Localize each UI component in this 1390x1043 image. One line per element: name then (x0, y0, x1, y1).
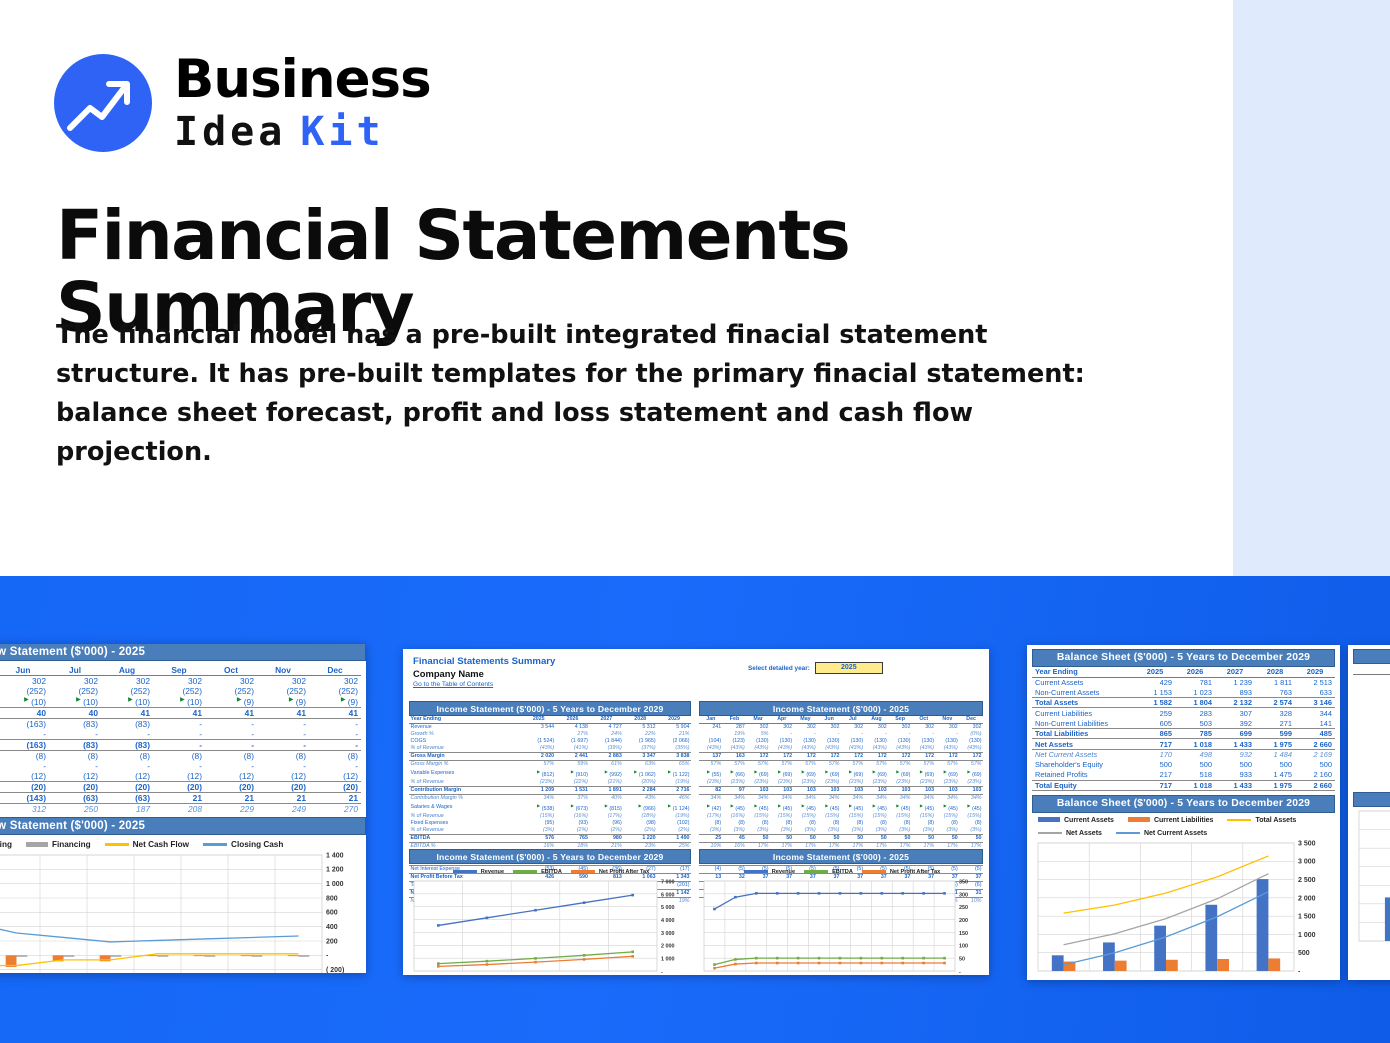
table-cell: 1 239 (1215, 677, 1255, 687)
table-row: 692 (1353, 715, 1390, 725)
svg-text:350: 350 (959, 880, 968, 886)
table-cell: ▶ (45) (746, 802, 770, 813)
comment-flag-icon: ▶ (754, 803, 757, 808)
row-label: Current Assets (1032, 677, 1135, 687)
legend-swatch (1227, 819, 1251, 822)
table-cell: (23%) (723, 779, 747, 787)
table-cell: ▶ (1 124) (657, 802, 691, 813)
svg-text:( 200): ( 200) (326, 967, 344, 973)
table-cell: 271 (1255, 718, 1295, 728)
table-cell: 302 (257, 676, 309, 687)
table-cell: 141 (1295, 718, 1335, 728)
monthly-income-title: Income Statement ($'000) - 2025 (699, 701, 983, 716)
legend-item: Current Liabilities (1128, 817, 1214, 824)
comment-flag-icon: ▶ (849, 769, 852, 774)
svg-text:500: 500 (1298, 950, 1310, 957)
table-row: 8297103103103103103103103103103103 (699, 787, 983, 795)
table-cell: (20) (257, 781, 309, 792)
table-cell: 57% (841, 761, 865, 769)
table-cell: - (101, 729, 153, 740)
table-cell: 1 975 (1255, 739, 1295, 749)
table-cell: 97 (723, 787, 747, 795)
table-cell: 41 (309, 707, 361, 718)
logo-word-kit: Kit (300, 112, 384, 152)
table-cell: (23%) (699, 779, 723, 787)
table-cell: (23%) (841, 779, 865, 787)
table-cell: 103 (912, 787, 936, 795)
annual-income-chart-title: Income Statement ($'000) - 5 Years to De… (409, 849, 691, 864)
table-cell: 21 (309, 792, 361, 803)
header-cell: 2026 (556, 716, 590, 724)
far-panel-table: Jan1 1741241 297936927865121 08150012512 (1353, 664, 1390, 788)
table-cell: (8) (153, 750, 205, 761)
table-cell: 1 209 (522, 787, 556, 795)
table-cell (522, 731, 556, 738)
logo-word-idea: Idea (174, 112, 286, 152)
table-row: (3%)(3%)(3%)(3%)(3%)(3%)(3%)(3%)(3%)(3%)… (699, 827, 983, 835)
comment-flag-icon: ▶ (754, 769, 757, 774)
header-cell: Oct (912, 716, 936, 724)
table-cell: (8) (959, 820, 983, 827)
table-cell: (20%) (623, 779, 657, 787)
table-row: Salaries & Wages▶ (538)▶ (673)▶ (815)▶ (… (409, 802, 691, 813)
table-cell: 3 544 (522, 724, 556, 732)
table-cell: - (49, 761, 101, 771)
comment-flag-icon: ▶ (707, 769, 710, 774)
header-cell: May (794, 716, 818, 724)
table-row: Fixed Expenses(95)(93)(96)(98)(102) (409, 820, 691, 827)
table-cell: (23%) (888, 779, 912, 787)
table-cell: 1 081 (1353, 746, 1390, 756)
table-cell: 34% (794, 795, 818, 803)
table-cell: (83) (49, 718, 101, 729)
screenshot-cash-flow[interactable]: Cash Flow Statement ($'000) - 2025 MayJu… (0, 643, 366, 973)
legend-item: Closing Cash (203, 840, 283, 849)
header-cell: Jun (0, 665, 49, 676)
table-cell: (12) (205, 771, 257, 782)
row-label: Total Liabilities (1032, 729, 1135, 739)
table-cell: (1 697) (556, 738, 590, 745)
comment-flag-icon: ▶ (849, 803, 852, 808)
table-row: 254550505050505050505050 (699, 835, 983, 843)
comment-flag-icon: ▶ (896, 803, 899, 808)
table-cell: (163) (0, 739, 49, 750)
table-cell: ▶ (10) (0, 696, 49, 707)
table-cell: 932 (1215, 749, 1255, 759)
table-cell: 302 (841, 724, 865, 732)
header-cell: Nov (257, 665, 309, 676)
table-cell: 37% (556, 795, 590, 803)
table-of-contents-link[interactable]: Go to the Table of Contents (413, 681, 989, 688)
table-cell: 103 (817, 787, 841, 795)
table-row: (8)(8)(8)(8)(8)(8)(8)(8)(8)(8)(8)(8) (699, 820, 983, 827)
table-cell: 287 (723, 724, 747, 732)
table-cell: 2 513 (1295, 677, 1335, 687)
table-row: % of Revenue(43%)(41%)(39%)(37%)(35%) (409, 745, 691, 753)
table-cell: 785 (1175, 729, 1215, 739)
table-cell: ▶ (45) (912, 802, 936, 813)
table-cell: ▶ (45) (794, 802, 818, 813)
table-cell: (95) (522, 820, 556, 827)
table-cell: (20) (0, 781, 49, 792)
table-cell: 2 020 (522, 753, 556, 761)
header-cell: 2026 (1175, 667, 1215, 677)
row-label: Non-Current Assets (1032, 687, 1135, 697)
row-label: Total Equity (1032, 780, 1135, 790)
table-cell: (22%) (556, 779, 590, 787)
table-cell: 4 727 (589, 724, 623, 732)
table-cell: 1 018 (1175, 780, 1215, 790)
table-cell: 50 (770, 835, 794, 843)
table-cell: 82 (699, 787, 723, 795)
monthly-income-chart: 35030025020015010050-JanFebMarAprMayJunJ… (699, 877, 983, 975)
table-cell: 429 (1135, 677, 1175, 687)
table-cell: (2 066) (657, 738, 691, 745)
table-row: Gross Margin %57%59%61%63%65% (409, 761, 691, 769)
header-cell: Oct (205, 665, 257, 676)
table-cell: (8) (723, 820, 747, 827)
table-cell: (19%) (657, 779, 691, 787)
table-row: ▶ (42)▶ (45)▶ (45)▶ (45)▶ (45)▶ (45)▶ (4… (699, 802, 983, 813)
table-cell: 302 (205, 676, 257, 687)
screenshot-balance-sheet[interactable]: Balance Sheet ($'000) - 5 Years to Decem… (1027, 645, 1340, 980)
table-cell: (20) (153, 781, 205, 792)
header-cell: Aug (101, 665, 153, 676)
table-cell: (8) (309, 750, 361, 761)
header-cell: Jun (817, 716, 841, 724)
comment-flag-icon: ▶ (825, 803, 828, 808)
table-row: 137163172172172172172172172172172172 (699, 753, 983, 761)
table-cell: - (205, 718, 257, 729)
table-row: ▶ (10)▶ (10)▶ (10)▶ (10)▶ (10)▶ (9)▶ (9)… (0, 696, 361, 707)
table-cell: 41 (101, 707, 153, 718)
table-cell: (15%) (912, 813, 936, 820)
table-cell: 1 433 (1215, 780, 1255, 790)
table-cell: 57% (723, 761, 747, 769)
table-cell: (2%) (623, 827, 657, 835)
table-cell: (130) (746, 738, 770, 745)
table-cell: 50 (936, 835, 960, 843)
table-cell: 229 (205, 803, 257, 814)
cash-flow-chart: 1 4001 2001 000800600400200-( 200)( 400)… (0, 851, 366, 973)
table-cell: 41 (205, 707, 257, 718)
table-cell: ▶ (45) (817, 802, 841, 813)
table-cell: - (205, 761, 257, 771)
table-cell: ▶ (69) (936, 768, 960, 779)
table-cell: 50 (817, 835, 841, 843)
table-cell: (98) (623, 820, 657, 827)
header-cell: Nov (936, 716, 960, 724)
far-panel-chart: Jan (1353, 807, 1390, 957)
table-cell: 763 (1255, 687, 1295, 697)
table-cell: 893 (1215, 687, 1255, 697)
table-row: 34%34%34%34%34%34%34%34%34%34%34%34% (699, 795, 983, 803)
table-cell: - (0, 729, 49, 740)
year-picker[interactable]: Select detailed year: 2025 (748, 662, 883, 674)
table-cell: 34% (522, 795, 556, 803)
table-cell: (3%) (699, 827, 723, 835)
table-row: Revenue3 5444 1384 7275 3125 904 (409, 724, 691, 732)
table-cell: 45 (723, 835, 747, 843)
table-row: Current Assets4297811 2391 8112 513 (1032, 677, 1335, 687)
table-cell: 50 (746, 835, 770, 843)
table-cell: ▶ (69) (841, 768, 865, 779)
table-cell: - (205, 729, 257, 740)
table-cell: 302 (794, 724, 818, 732)
table-cell: 21 (205, 792, 257, 803)
table-row: (21)(20)(20)(20)(20)(20)(20)(20) (0, 781, 361, 792)
table-row: 1 081 (1353, 746, 1390, 756)
table-cell: 1 297 (1353, 695, 1390, 705)
table-cell: (17%) (589, 813, 623, 820)
table-cell: (3%) (912, 827, 936, 835)
table-row: Total Equity7171 0181 4331 9752 660 (1032, 780, 1335, 790)
table-cell: (130) (888, 738, 912, 745)
legend-item: Financing (26, 840, 91, 849)
page-description: The financial model has a pre-built inte… (56, 316, 1096, 472)
table-cell: (15%) (888, 813, 912, 820)
table-cell: (8) (936, 820, 960, 827)
table-cell: (8) (49, 750, 101, 761)
cash-flow-table: MayJunJulAugSepOctNovDec3023023023023023… (0, 665, 361, 814)
table-cell: (8) (205, 750, 257, 761)
table-cell: 2 883 (589, 753, 623, 761)
header-cell: Dec (959, 716, 983, 724)
monthly-income-chart-title: Income Statement ($'000) - 2025 (699, 849, 983, 864)
table-cell: (17%) (699, 813, 723, 820)
table-cell: (0%) (959, 731, 983, 738)
table-cell: 124 (1353, 685, 1390, 695)
table-row: % of Revenue(23%)(22%)(21%)(20%)(19%) (409, 779, 691, 787)
table-cell: 57% (865, 761, 889, 769)
table-cell: 21% (657, 731, 691, 738)
svg-text:2 500: 2 500 (1298, 877, 1316, 884)
table-cell: (15%) (794, 813, 818, 820)
table-header-row: JanFebMarAprMayJunJulAugSepOctNovDec (699, 716, 983, 724)
table-cell: 57% (522, 761, 556, 769)
table-cell: 2 284 (623, 787, 657, 795)
table-cell: 172 (912, 753, 936, 761)
table-cell: (102) (657, 820, 691, 827)
svg-text:-: - (326, 953, 329, 960)
table-cell: 2 660 (1295, 780, 1335, 790)
table-cell: ▶ (66) (723, 768, 747, 779)
table-cell: (15%) (746, 813, 770, 820)
table-cell: (43%) (522, 745, 556, 753)
header-cell: 2029 (657, 716, 691, 724)
table-cell: ▶ (45) (888, 802, 912, 813)
header-cell: 2028 (1255, 667, 1295, 677)
legend-item: Revenue (744, 869, 795, 875)
table-cell: 302 (912, 724, 936, 732)
comment-flag-icon: ▶ (920, 769, 923, 774)
header-cell: Jul (49, 665, 101, 676)
table-cell: - (309, 761, 361, 771)
table-cell: (2%) (589, 827, 623, 835)
table-cell: (8) (817, 820, 841, 827)
table-cell: 633 (1295, 687, 1335, 697)
table-cell: 3 838 (657, 753, 691, 761)
right-accent-panel (1233, 0, 1390, 576)
table-cell: (39%) (589, 745, 623, 753)
table-cell: 576 (522, 835, 556, 843)
table-cell: ▶ (10) (49, 696, 101, 707)
row-label: Variable Expenses (409, 768, 522, 779)
table-cell: (8) (101, 750, 153, 761)
table-cell: 2 169 (1295, 749, 1335, 759)
screenshot-income-statement[interactable]: Financial Statements Summary Company Nam… (403, 649, 989, 975)
svg-text:4 000: 4 000 (661, 918, 675, 924)
svg-text:3 000: 3 000 (661, 931, 675, 937)
table-cell: 717 (1135, 780, 1175, 790)
table-cell: (8) (888, 820, 912, 827)
table-cell: (130) (936, 738, 960, 745)
comment-flag-icon: ▶ (237, 697, 242, 703)
table-cell: 865 (1135, 729, 1175, 739)
table-cell: ▶ (69) (888, 768, 912, 779)
legend-swatch (105, 843, 129, 846)
header-cell: Year Ending (409, 716, 522, 724)
legend-swatch (26, 842, 48, 847)
table-cell: (8) (746, 820, 770, 827)
table-cell: (43%) (723, 745, 747, 753)
monthly-income-chart-legend: RevenueEBITDANet Profit After Tax (699, 864, 983, 877)
table-row: 241287302302302302302302302302302302 (699, 724, 983, 732)
table-cell: - (309, 739, 361, 750)
table-cell: 103 (746, 787, 770, 795)
table-row: Gross Margin2 0202 4412 8833 3473 838 (409, 753, 691, 761)
table-cell: 512 (1353, 736, 1390, 746)
table-cell: 172 (817, 753, 841, 761)
table-cell: ▶ (69) (912, 768, 936, 779)
table-cell: 302 (101, 676, 153, 687)
svg-text:1 400: 1 400 (326, 852, 344, 859)
comment-flag-icon: ▶ (76, 697, 81, 703)
table-cell: 19% (723, 731, 747, 738)
table-cell: 500 (1295, 759, 1335, 769)
table-row: ▶ (55)▶ (66)▶ (69)▶ (69)▶ (69)▶ (69)▶ (6… (699, 768, 983, 779)
table-cell: 25 (699, 835, 723, 843)
cash-flow-table-title: Cash Flow Statement ($'000) - 2025 (0, 643, 366, 661)
table-row: 500 (1353, 757, 1390, 767)
legend-item: EBITDA (513, 869, 562, 875)
table-cell: (3%) (841, 827, 865, 835)
svg-text:400: 400 (326, 924, 338, 931)
svg-text:1 000: 1 000 (661, 957, 675, 963)
table-row: Shareholder's Equity500500500500500 (1032, 759, 1335, 769)
comment-flag-icon: ▶ (944, 769, 947, 774)
table-cell: 1 804 (1175, 698, 1215, 708)
table-cell: - (936, 731, 960, 738)
table-cell: 1 811 (1255, 677, 1295, 687)
annual-income-chart-legend: RevenueEBITDANet Profit After Tax (409, 864, 691, 877)
comment-flag-icon: ▶ (967, 803, 970, 808)
table-cell: 605 (1135, 718, 1175, 728)
table-row: (8)(8)(8)(8)(8)(8)(8)(8) (0, 750, 361, 761)
row-label: % of Revenue (409, 827, 522, 835)
table-row: 124 (1353, 685, 1390, 695)
svg-text:150: 150 (959, 931, 968, 937)
table-cell: 57% (888, 761, 912, 769)
svg-text:50: 50 (959, 957, 965, 963)
legend-swatch (1038, 832, 1062, 835)
table-cell: (83) (101, 718, 153, 729)
table-cell: (3%) (936, 827, 960, 835)
row-label: Total Assets (1032, 698, 1135, 708)
row-label: % of Revenue (409, 813, 522, 820)
table-cell: - (153, 761, 205, 771)
table-cell: (37%) (623, 745, 657, 753)
table-row: Current Liabilities259283307328344 (1032, 708, 1335, 718)
table-cell: 302 (888, 724, 912, 732)
table-cell: (15%) (522, 813, 556, 820)
comment-flag-icon: ▶ (341, 697, 346, 703)
table-cell: (23%) (959, 779, 983, 787)
table-cell: 172 (936, 753, 960, 761)
svg-text:600: 600 (326, 910, 338, 917)
header-cell: Sep (153, 665, 205, 676)
table-cell: (16%) (723, 813, 747, 820)
table-row: Growth %27%24%22%21% (409, 731, 691, 738)
svg-text:5 000: 5 000 (661, 905, 675, 911)
legend-item: Net Profit After Tax (571, 869, 649, 875)
table-cell: (12) (153, 771, 205, 782)
table-cell: 249 (257, 803, 309, 814)
table-cell: (8) (794, 820, 818, 827)
svg-text:250: 250 (959, 905, 968, 911)
header-cell: Dec (309, 665, 361, 676)
table-cell: 57% (817, 761, 841, 769)
comment-flag-icon: ▶ (537, 803, 540, 808)
table-cell: ▶ (45) (959, 802, 983, 813)
table-cell: (23%) (746, 779, 770, 787)
table-cell: 65% (657, 761, 691, 769)
table-cell: 328 (1255, 708, 1295, 718)
row-label: % of Revenue (409, 779, 522, 787)
table-cell: ▶ (69) (959, 768, 983, 779)
table-cell: - (205, 739, 257, 750)
row-label: % of Revenue (409, 745, 522, 753)
table-row: Total Assets1 5821 8042 1322 5743 146 (1032, 698, 1335, 708)
table-cell: 2 160 (1295, 770, 1335, 780)
table-cell: ▶ (1 062) (623, 768, 657, 779)
table-cell: 103 (841, 787, 865, 795)
table-cell: 307 (1215, 708, 1255, 718)
header-cell: 2025 (522, 716, 556, 724)
table-cell: 103 (770, 787, 794, 795)
comment-flag-icon: ▶ (731, 803, 734, 808)
table-cell: 1 174 (1353, 674, 1390, 684)
legend-swatch (1128, 817, 1150, 822)
table-row: Contribution Margin %34%37%40%43%46% (409, 795, 691, 803)
year-picker-input[interactable]: 2025 (815, 662, 883, 674)
header-cell: 2027 (1215, 667, 1255, 677)
table-cell: 1 153 (1135, 687, 1175, 697)
screenshot-balance-sheet-monthly[interactable]: Jan1 1741241 297936927865121 08150012512… (1348, 645, 1390, 980)
row-label: Fixed Expenses (409, 820, 522, 827)
row-label: Shareholder's Equity (1032, 759, 1135, 769)
table-cell: (8) (865, 820, 889, 827)
comment-flag-icon: ▶ (668, 803, 671, 808)
svg-text:1 000: 1 000 (1298, 931, 1316, 938)
table-cell: (252) (153, 686, 205, 696)
table-cell: 22% (623, 731, 657, 738)
table-cell: ▶ (69) (817, 768, 841, 779)
table-row: % of Revenue(15%)(16%)(17%)(18%)(19%) (409, 813, 691, 820)
table-cell: ▶ (69) (794, 768, 818, 779)
table-cell: 172 (746, 753, 770, 761)
legend-swatch (571, 870, 595, 873)
